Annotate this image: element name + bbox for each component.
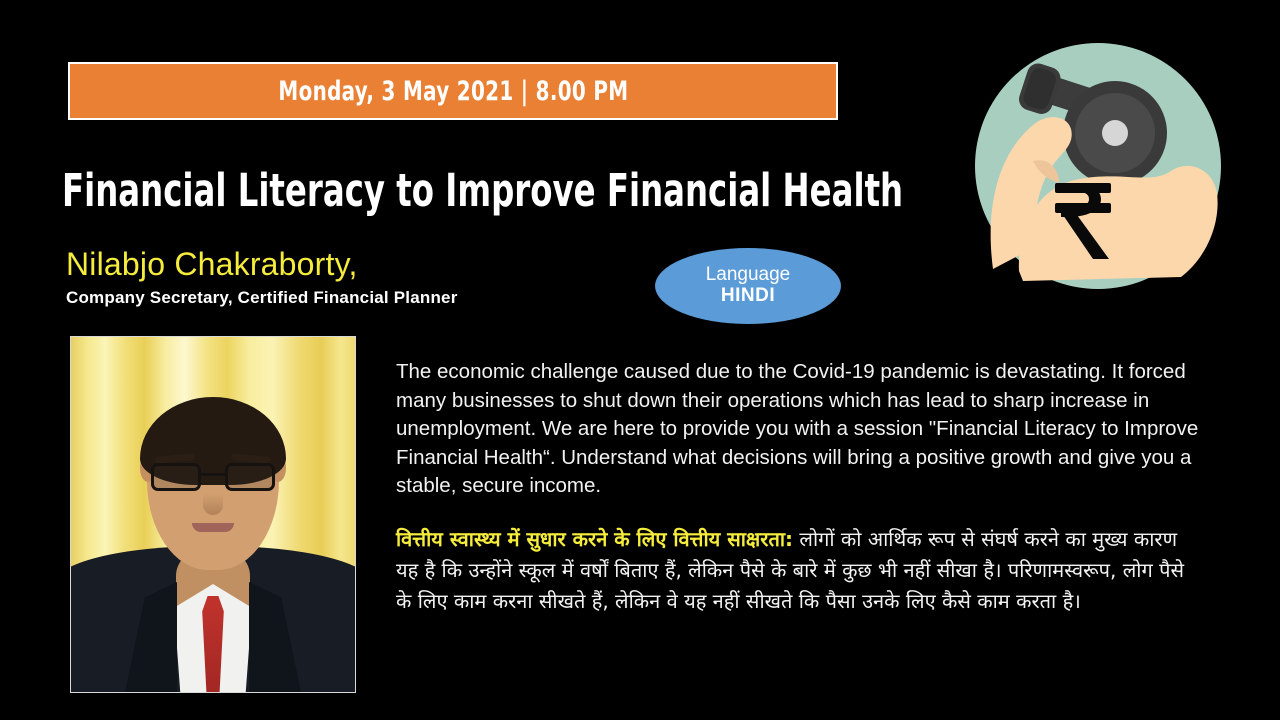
- speaker-photo: [70, 336, 356, 693]
- language-badge: Language HINDI: [655, 248, 841, 324]
- photo-eyeglasses: [151, 463, 275, 493]
- eyeglass-bridge: [201, 473, 225, 476]
- speaker-role: Company Secretary, Certified Financial P…: [66, 288, 458, 308]
- speaker-name: Nilabjo Chakraborty,: [66, 246, 358, 283]
- eyeglass-lens-left: [151, 463, 201, 491]
- page-title: Financial Literacy to Improve Financial …: [62, 166, 718, 216]
- description-english: The economic challenge caused due to the…: [396, 358, 1226, 501]
- photo-mouth: [192, 523, 234, 532]
- date-banner-text: Monday, 3 May 2021 | 8.00 PM: [278, 76, 628, 107]
- description-hindi-lead: वित्तीय स्वास्थ्य में सुधार करने के लिए …: [396, 527, 793, 551]
- date-banner: Monday, 3 May 2021 | 8.00 PM: [68, 62, 838, 120]
- description-hindi: वित्तीय स्वास्थ्य में सुधार करने के लिए …: [396, 524, 1196, 617]
- eyeglass-lens-right: [225, 463, 275, 491]
- photo-nose: [203, 493, 223, 515]
- webinar-poster: Monday, 3 May 2021 | 8.00 PM Financial L…: [0, 0, 1280, 720]
- language-badge-label: Language: [706, 265, 791, 286]
- language-badge-value: HINDI: [721, 286, 775, 307]
- flexing-arm-rupee-logo: [975, 33, 1221, 299]
